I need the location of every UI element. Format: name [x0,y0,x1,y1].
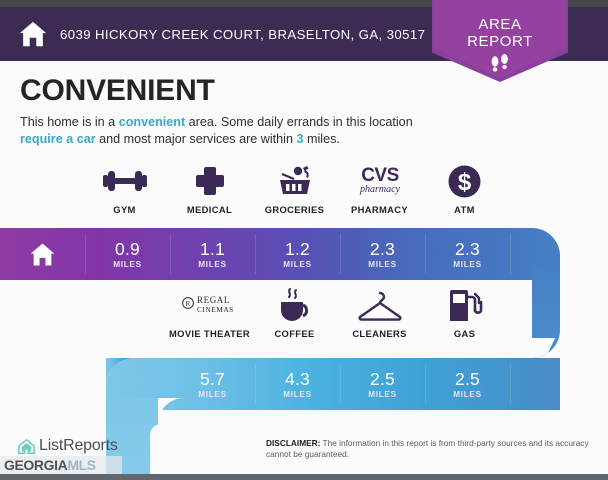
summary-text-2: area. Some daily errands in this locatio… [185,115,413,129]
category-groceries: GROCERIES [252,163,337,221]
gas-pump-icon [447,288,483,324]
watermark-georgia: GEORGIA [4,457,67,473]
summary-text-1: This home is in a [20,115,119,129]
category-label: CLEANERS [352,328,406,339]
category-medical: MEDICAL [167,163,252,221]
area-report-page: 6039 HICKORY CREEK COURT, BRASELTON, GA,… [0,0,608,480]
summary-text: This home is in a convenient area. Some … [20,114,440,147]
area-report-badge [435,0,565,78]
category-coffee: COFFEE [252,288,337,350]
svg-text:CVS: CVS [361,165,399,186]
category-label: GROCERIES [265,204,324,215]
svg-text:pharmacy: pharmacy [359,184,401,195]
regal-cinemas-icon: R REGAL CINEMAS [181,288,239,324]
category-label: MOVIE THEATER [169,328,250,339]
category-pharmacy: CVS pharmacy PHARMACY [337,163,422,221]
dumbbell-icon [103,163,147,199]
house-mark-icon [18,438,35,455]
category-icons-row-1: GYM MEDICAL [82,163,527,221]
disclaimer-label: DISCLAIMER: [266,438,320,448]
summary-highlight-3: 3 [296,132,303,146]
summary-text-3: and most major services are within [96,132,297,146]
summary-text-4: miles. [304,132,340,146]
cvs-pharmacy-icon: CVS pharmacy [351,163,409,199]
category-gas: GAS [422,288,507,350]
category-gym: GYM [82,163,167,221]
watermark-mls: MLS [67,457,95,473]
listreports-logo[interactable]: ListReports [18,437,118,455]
grocery-basket-icon [277,163,313,199]
category-movie-theater: R REGAL CINEMAS MOVIE THEATER [167,288,252,350]
category-label: PHARMACY [351,204,408,215]
coffee-cup-icon [276,288,314,324]
category-label: GAS [454,328,475,339]
category-icons-row-2: R REGAL CINEMAS MOVIE THEATER COFFEE [167,288,527,350]
summary-highlight-2: require a car [20,132,96,146]
summary-highlight-1: convenient [119,115,185,129]
category-label: COFFEE [274,328,314,339]
svg-text:R: R [185,300,190,308]
category-label: GYM [113,204,135,215]
category-label: MEDICAL [187,204,232,215]
property-address: 6039 HICKORY CREEK COURT, BRASELTON, GA,… [60,27,425,42]
category-cleaners: CLEANERS [337,288,422,350]
watermark-row: GEORGIA MLS [4,457,122,473]
dollar-circle-icon: $ [448,163,481,199]
home-icon [18,19,48,49]
category-atm: $ ATM [422,163,507,221]
listreports-wordmark: ListReports [39,437,118,455]
hanger-icon [357,288,403,324]
page-title: CONVENIENT [20,74,215,108]
svg-text:$: $ [458,169,472,196]
medical-cross-icon [195,163,225,199]
svg-text:REGAL: REGAL [197,295,230,305]
bottom-edge-strip [0,474,608,480]
category-label: ATM [454,204,475,215]
disclaimer: DISCLAIMER: The information in this repo… [266,438,596,460]
svg-text:CINEMAS: CINEMAS [197,305,234,314]
